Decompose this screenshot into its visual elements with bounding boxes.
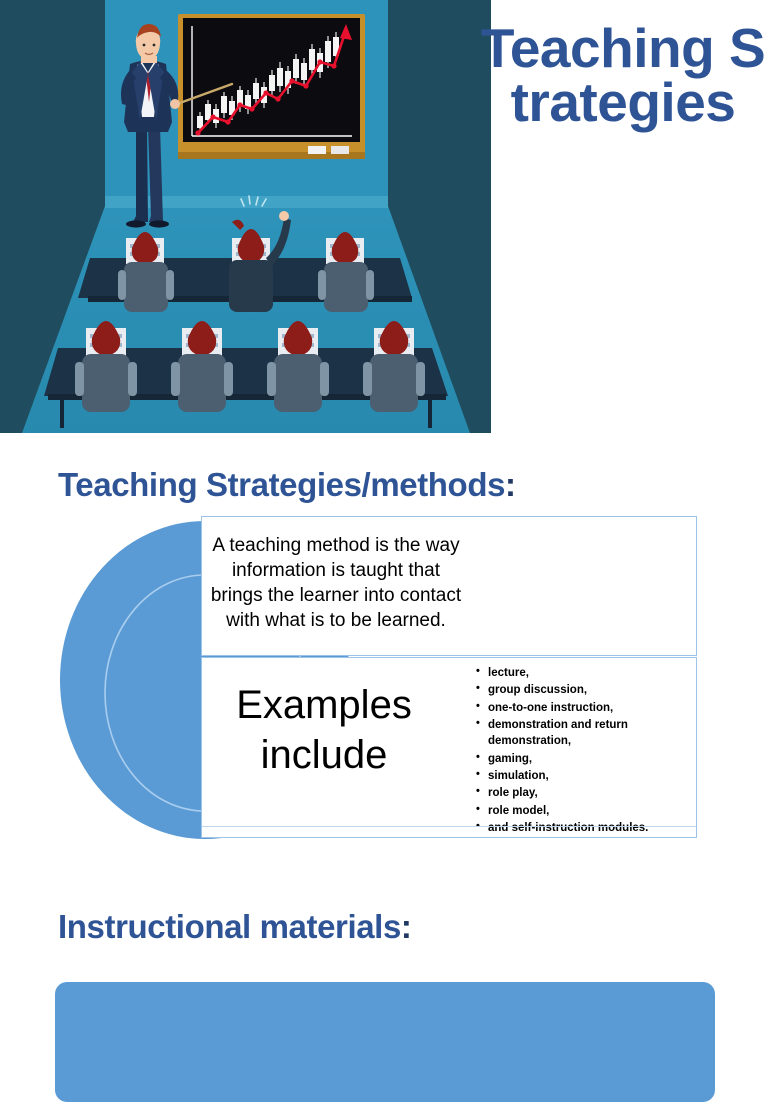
list-item: gaming, <box>476 751 696 767</box>
section-heading-materials-colon: : <box>401 908 412 945</box>
section-heading-materials-label: Instructional materials <box>58 908 401 945</box>
examples-list: lecture, group discussion, one-to-one in… <box>446 658 696 837</box>
classroom-illustration-svg <box>0 0 491 433</box>
list-item: one-to-one instruction, <box>476 700 696 716</box>
page-title: Teaching Strategies <box>478 22 768 130</box>
examples-label-wrap: Examples include <box>202 658 446 837</box>
definition-textbox: A teaching method is the way information… <box>201 516 697 656</box>
examples-label: Examples include <box>202 680 446 780</box>
instructional-materials-panel-text <box>55 982 715 1000</box>
section-heading-strategies-colon: : <box>505 466 516 503</box>
examples-inner-divider <box>202 826 696 827</box>
list-item: and self-instruction modules. <box>476 820 696 836</box>
list-item: role model, <box>476 803 696 819</box>
definition-text: A teaching method is the way information… <box>202 517 462 633</box>
section-heading-materials: Instructional materials: <box>58 908 412 946</box>
list-item: role play, <box>476 785 696 801</box>
section-heading-strategies-label: Teaching Strategies/methods <box>58 466 505 503</box>
list-item: simulation, <box>476 768 696 784</box>
list-item: demonstration and return demonstration, <box>476 717 696 750</box>
list-item: lecture, <box>476 665 696 681</box>
list-item: group discussion, <box>476 682 696 698</box>
section-heading-strategies: Teaching Strategies/methods: <box>58 466 516 504</box>
instructional-materials-panel <box>55 982 715 1102</box>
examples-textbox: Examples include lecture, group discussi… <box>201 657 697 838</box>
hero-illustration <box>0 0 491 433</box>
